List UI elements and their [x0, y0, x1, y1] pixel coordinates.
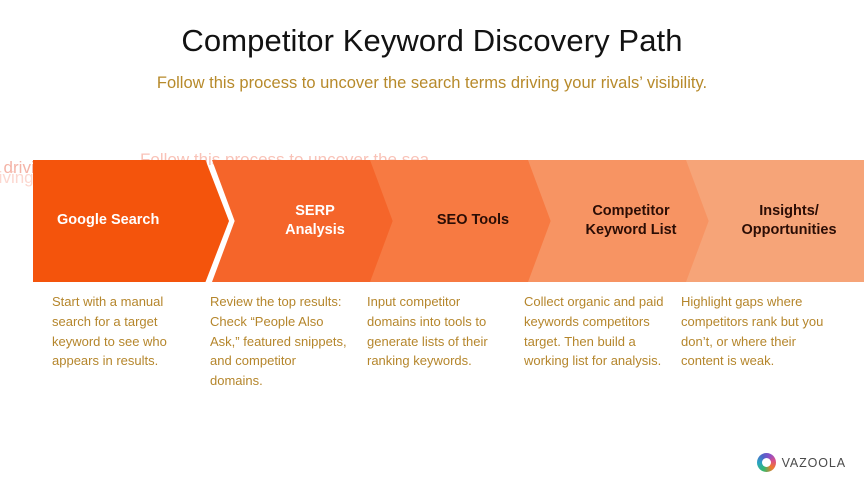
step-descriptions: Start with a manual search for a target … [0, 292, 864, 422]
page-subtitle: Follow this process to uncover the searc… [0, 73, 864, 94]
flow-step-label: Insights/ Opportunities [686, 202, 864, 240]
flow-step-label-line-1: Competitor [592, 203, 669, 219]
page-title: Competitor Keyword Discovery Path [0, 22, 864, 59]
step-description-5: Highlight gaps where competitors rank bu… [681, 292, 829, 371]
step-description-2: Review the top results: Check “People Al… [210, 292, 350, 391]
vazoola-ring-icon [757, 453, 776, 472]
flow-step-label-line-2: Opportunities [741, 222, 836, 238]
flow-step-insights-opportunities[interactable]: Insights/ Opportunities [686, 160, 864, 282]
flow-step-google-search[interactable]: Google Search [33, 160, 229, 282]
step-description-4: Collect organic and paid keywords compet… [524, 292, 664, 371]
step-description-3: Input competitor domains into tools to g… [367, 292, 507, 371]
flow-step-label: SERP Analysis [212, 202, 418, 240]
brand-name: VAZOOLA [782, 456, 846, 470]
flow-step-label: SEO Tools [370, 211, 576, 230]
step-description-1: Start with a manual search for a target … [52, 292, 192, 371]
flow-step-label-line-2: Keyword List [585, 222, 676, 238]
flow-step-label: Google Search [33, 211, 229, 230]
flow-step-label-line-1: SERP [295, 203, 335, 219]
flow-step-label: Competitor Keyword List [528, 202, 734, 240]
process-flow: Google Search SERP Analysis SEO Tools Co… [0, 160, 864, 282]
slide-canvas: Competitor Keyword Discovery Path Follow… [0, 0, 864, 486]
brand-logo: VAZOOLA [757, 453, 846, 472]
flow-step-label-line-2: Analysis [285, 222, 345, 238]
flow-step-label-line-1: Insights/ [759, 203, 819, 219]
